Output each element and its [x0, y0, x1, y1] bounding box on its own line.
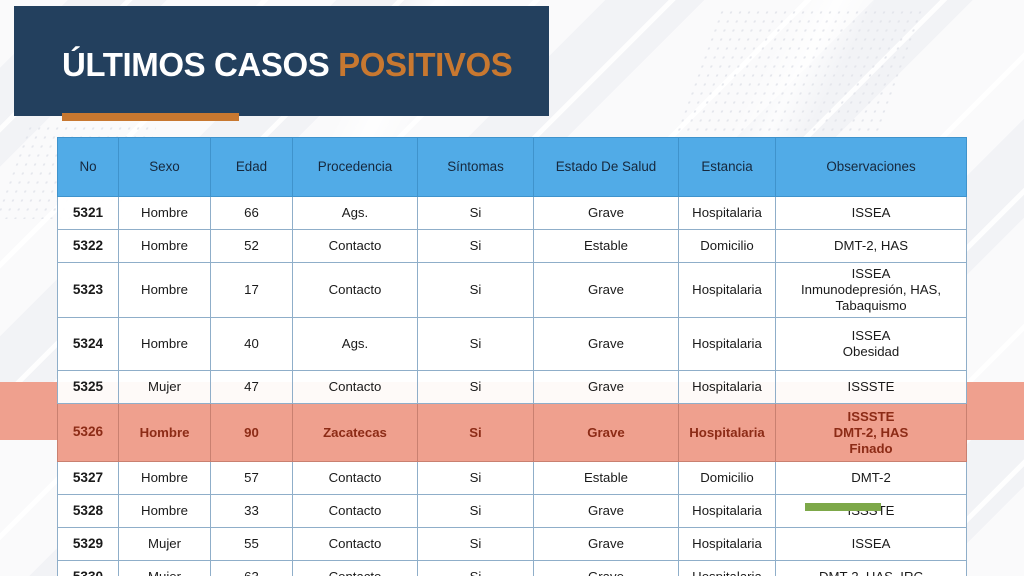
- cell-estancia: Hospitalaria: [679, 528, 776, 561]
- cell-procedencia: Ags.: [293, 197, 418, 230]
- page-title: ÚLTIMOS CASOS POSITIVOS: [62, 48, 512, 81]
- cell-procedencia: Contacto: [293, 495, 418, 528]
- cell-sintomas: Si: [418, 561, 534, 576]
- page-title-main: ÚLTIMOS CASOS: [62, 46, 329, 83]
- cell-estancia: Domicilio: [679, 230, 776, 263]
- cell-observaciones: ISSEA: [776, 197, 967, 230]
- cell-edad: 66: [211, 197, 293, 230]
- cell-sintomas: Si: [418, 318, 534, 371]
- cell-observaciones: ISSEAInmunodepresión, HAS,Tabaquismo: [776, 263, 967, 318]
- cell-estancia: Hospitalaria: [679, 318, 776, 371]
- cell-sintomas: Si: [418, 371, 534, 404]
- cell-edad: 57: [211, 462, 293, 495]
- cell-sexo: Hombre: [119, 462, 211, 495]
- cell-procedencia: Zacatecas: [293, 404, 418, 462]
- column-header-sexo[interactable]: Sexo: [119, 138, 211, 197]
- table-row[interactable]: 5326Hombre90ZacatecasSiGraveHospitalaria…: [58, 404, 967, 462]
- cell-estancia: Hospitalaria: [679, 495, 776, 528]
- table-row[interactable]: 5323Hombre17ContactoSiGraveHospitalariaI…: [58, 263, 967, 318]
- cell-estancia: Hospitalaria: [679, 197, 776, 230]
- cell-sexo: Hombre: [119, 318, 211, 371]
- cell-observaciones: ISSSTE: [776, 495, 967, 528]
- cell-edad: 55: [211, 528, 293, 561]
- cell-sintomas: Si: [418, 528, 534, 561]
- cell-sexo: Hombre: [119, 404, 211, 462]
- cell-estado-de-salud: Estable: [534, 462, 679, 495]
- column-header-sintomas[interactable]: Síntomas: [418, 138, 534, 197]
- table-row[interactable]: 5329Mujer55ContactoSiGraveHospitalariaIS…: [58, 528, 967, 561]
- cell-estancia: Hospitalaria: [679, 263, 776, 318]
- cell-no: 5321: [58, 197, 119, 230]
- column-header-edad[interactable]: Edad: [211, 138, 293, 197]
- cell-sintomas: Si: [418, 404, 534, 462]
- cell-sexo: Hombre: [119, 263, 211, 318]
- column-header-estado-de-salud[interactable]: Estado De Salud: [534, 138, 679, 197]
- cell-sexo: Mujer: [119, 561, 211, 576]
- cell-estado-de-salud: Grave: [534, 528, 679, 561]
- cell-no: 5324: [58, 318, 119, 371]
- cell-sintomas: Si: [418, 263, 534, 318]
- cell-no: 5322: [58, 230, 119, 263]
- cell-procedencia: Contacto: [293, 263, 418, 318]
- cell-no: 5328: [58, 495, 119, 528]
- cell-no: 5323: [58, 263, 119, 318]
- cell-edad: 90: [211, 404, 293, 462]
- title-underline-bar: [62, 113, 239, 121]
- cell-sintomas: Si: [418, 230, 534, 263]
- cell-edad: 63: [211, 561, 293, 576]
- cell-sexo: Mujer: [119, 528, 211, 561]
- cell-procedencia: Contacto: [293, 230, 418, 263]
- table-row[interactable]: 5330Mujer63ContactoSiGraveHospitalariaDM…: [58, 561, 967, 576]
- cell-edad: 40: [211, 318, 293, 371]
- page-title-accent: POSITIVOS: [338, 46, 512, 83]
- table-row[interactable]: 5322Hombre52ContactoSiEstableDomicilioDM…: [58, 230, 967, 263]
- cell-estancia: Domicilio: [679, 462, 776, 495]
- table-row[interactable]: 5321Hombre66Ags.SiGraveHospitalariaISSEA: [58, 197, 967, 230]
- table-header-row: No Sexo Edad Procedencia Síntomas Estado…: [58, 138, 967, 197]
- cell-estado-de-salud: Grave: [534, 495, 679, 528]
- green-highlight-marker-icon: [805, 503, 881, 511]
- cell-no: 5325: [58, 371, 119, 404]
- slide-canvas: ÚLTIMOS CASOS POSITIVOS No Sexo Edad Pro…: [0, 0, 1024, 576]
- cell-sintomas: Si: [418, 495, 534, 528]
- cell-estancia: Hospitalaria: [679, 371, 776, 404]
- cell-sexo: Hombre: [119, 230, 211, 263]
- cell-estancia: Hospitalaria: [679, 404, 776, 462]
- table-row[interactable]: 5327Hombre57ContactoSiEstableDomicilioDM…: [58, 462, 967, 495]
- table-body: 5321Hombre66Ags.SiGraveHospitalariaISSEA…: [58, 197, 967, 576]
- cell-edad: 33: [211, 495, 293, 528]
- cell-procedencia: Contacto: [293, 371, 418, 404]
- cell-observaciones: ISSSTEDMT-2, HASFinado: [776, 404, 967, 462]
- column-header-no[interactable]: No: [58, 138, 119, 197]
- table-header: No Sexo Edad Procedencia Síntomas Estado…: [58, 138, 967, 197]
- cell-observaciones: DMT-2: [776, 462, 967, 495]
- column-header-observaciones[interactable]: Observaciones: [776, 138, 967, 197]
- column-header-estancia[interactable]: Estancia: [679, 138, 776, 197]
- cell-procedencia: Contacto: [293, 462, 418, 495]
- table-row[interactable]: 5328Hombre33ContactoSiGraveHospitalariaI…: [58, 495, 967, 528]
- cell-estado-de-salud: Estable: [534, 230, 679, 263]
- column-header-procedencia[interactable]: Procedencia: [293, 138, 418, 197]
- cell-observaciones: DMT-2, HAS, IRC: [776, 561, 967, 576]
- title-banner: ÚLTIMOS CASOS POSITIVOS: [14, 6, 549, 116]
- cell-procedencia: Ags.: [293, 318, 418, 371]
- table-row[interactable]: 5325Mujer47ContactoSiGraveHospitalariaIS…: [58, 371, 967, 404]
- cell-estado-de-salud: Grave: [534, 318, 679, 371]
- cell-procedencia: Contacto: [293, 528, 418, 561]
- cell-observaciones: DMT-2, HAS: [776, 230, 967, 263]
- cell-observaciones: ISSEAObesidad: [776, 318, 967, 371]
- cell-no: 5330: [58, 561, 119, 576]
- cell-sexo: Hombre: [119, 197, 211, 230]
- cell-observaciones: ISSEA: [776, 528, 967, 561]
- cell-sexo: Hombre: [119, 495, 211, 528]
- cell-estancia: Hospitalaria: [679, 561, 776, 576]
- cell-estado-de-salud: Grave: [534, 371, 679, 404]
- cell-no: 5326: [58, 404, 119, 462]
- cell-edad: 47: [211, 371, 293, 404]
- cell-observaciones: ISSSTE: [776, 371, 967, 404]
- cell-edad: 52: [211, 230, 293, 263]
- cell-no: 5327: [58, 462, 119, 495]
- cell-estado-de-salud: Grave: [534, 561, 679, 576]
- cell-sintomas: Si: [418, 197, 534, 230]
- table-row[interactable]: 5324Hombre40Ags.SiGraveHospitalariaISSEA…: [58, 318, 967, 371]
- cell-estado-de-salud: Grave: [534, 197, 679, 230]
- cell-sexo: Mujer: [119, 371, 211, 404]
- cell-no: 5329: [58, 528, 119, 561]
- cell-edad: 17: [211, 263, 293, 318]
- cell-sintomas: Si: [418, 462, 534, 495]
- cell-estado-de-salud: Grave: [534, 404, 679, 462]
- cell-procedencia: Contacto: [293, 561, 418, 576]
- cell-estado-de-salud: Grave: [534, 263, 679, 318]
